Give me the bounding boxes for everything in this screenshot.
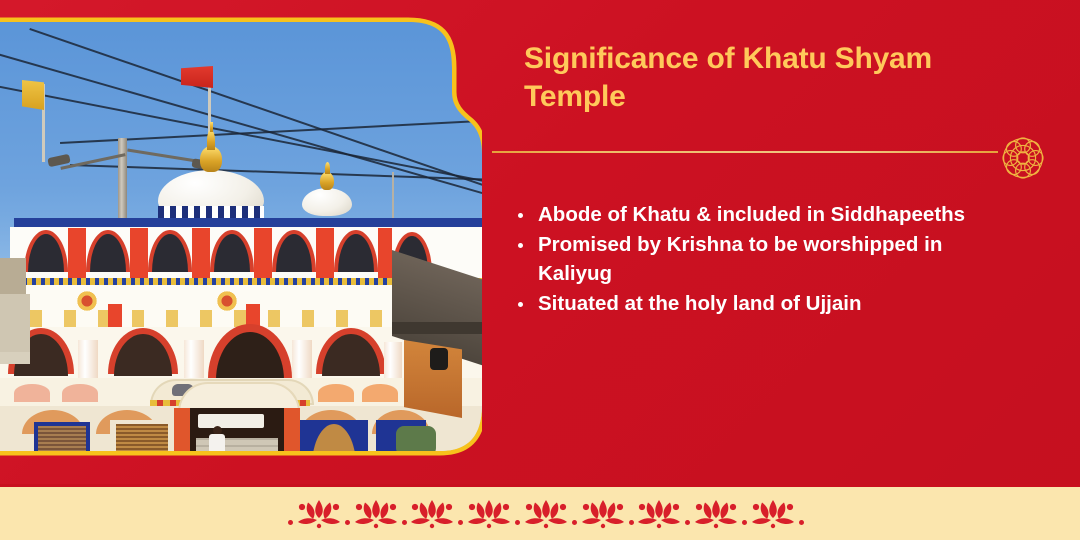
devotee-figure	[208, 426, 226, 451]
page-title: Significance of Khatu Shyam Temple	[524, 40, 994, 116]
footer-top-rule	[0, 484, 1080, 487]
lotus-motif-icon	[748, 496, 798, 530]
lotus-separator-dot-icon	[799, 520, 804, 525]
lotus-motif-icon	[691, 496, 741, 530]
temple-photo-panel	[0, 22, 482, 451]
list-item-text: Promised by Krishna to be worshipped in …	[538, 233, 942, 285]
lotus-border-pattern	[288, 495, 804, 531]
secondary-dome	[302, 188, 352, 216]
yellow-flag-icon	[22, 80, 44, 110]
lotus-motif-icon	[407, 496, 457, 530]
footer-band	[0, 487, 1080, 540]
lotus-motif-icon	[351, 496, 401, 530]
lotus-separator-dot-icon	[515, 520, 520, 525]
lotus-motif-icon	[578, 496, 628, 530]
bullet-list-container: Abode of Khatu & included in Siddhapeeth…	[512, 200, 1012, 319]
lotus-motif-icon	[521, 496, 571, 530]
lotus-motif-icon	[464, 496, 514, 530]
list-item-text: Abode of Khatu & included in Siddhapeeth…	[538, 203, 965, 226]
lotus-motif-icon	[294, 496, 344, 530]
lotus-separator-dot-icon	[685, 520, 690, 525]
list-item: Abode of Khatu & included in Siddhapeeth…	[512, 200, 1012, 229]
saffron-flag-icon	[181, 66, 213, 88]
mandala-rosette-icon	[996, 131, 1050, 185]
slide-canvas: Significance of Khatu Shyam Temple Abode…	[0, 0, 1080, 540]
list-item: Situated at the holy land of Ujjain	[512, 289, 1012, 318]
bullet-dot-icon	[518, 302, 523, 307]
lotus-separator-dot-icon	[572, 520, 577, 525]
list-item: Promised by Krishna to be worshipped in …	[512, 230, 1012, 288]
gold-divider-line	[492, 151, 998, 153]
bullet-dot-icon	[518, 213, 523, 218]
lotus-separator-dot-icon	[458, 520, 463, 525]
bullet-list: Abode of Khatu & included in Siddhapeeth…	[512, 200, 1012, 318]
lotus-separator-dot-icon	[288, 520, 293, 525]
lotus-separator-dot-icon	[345, 520, 350, 525]
lotus-separator-dot-icon	[402, 520, 407, 525]
lotus-motif-icon	[634, 496, 684, 530]
page-title-text: Significance of Khatu Shyam Temple	[524, 42, 932, 113]
bullet-dot-icon	[518, 243, 523, 248]
list-item-text: Situated at the holy land of Ujjain	[538, 292, 861, 315]
lotus-separator-dot-icon	[742, 520, 747, 525]
lotus-separator-dot-icon	[629, 520, 634, 525]
temple-photograph	[0, 22, 482, 451]
